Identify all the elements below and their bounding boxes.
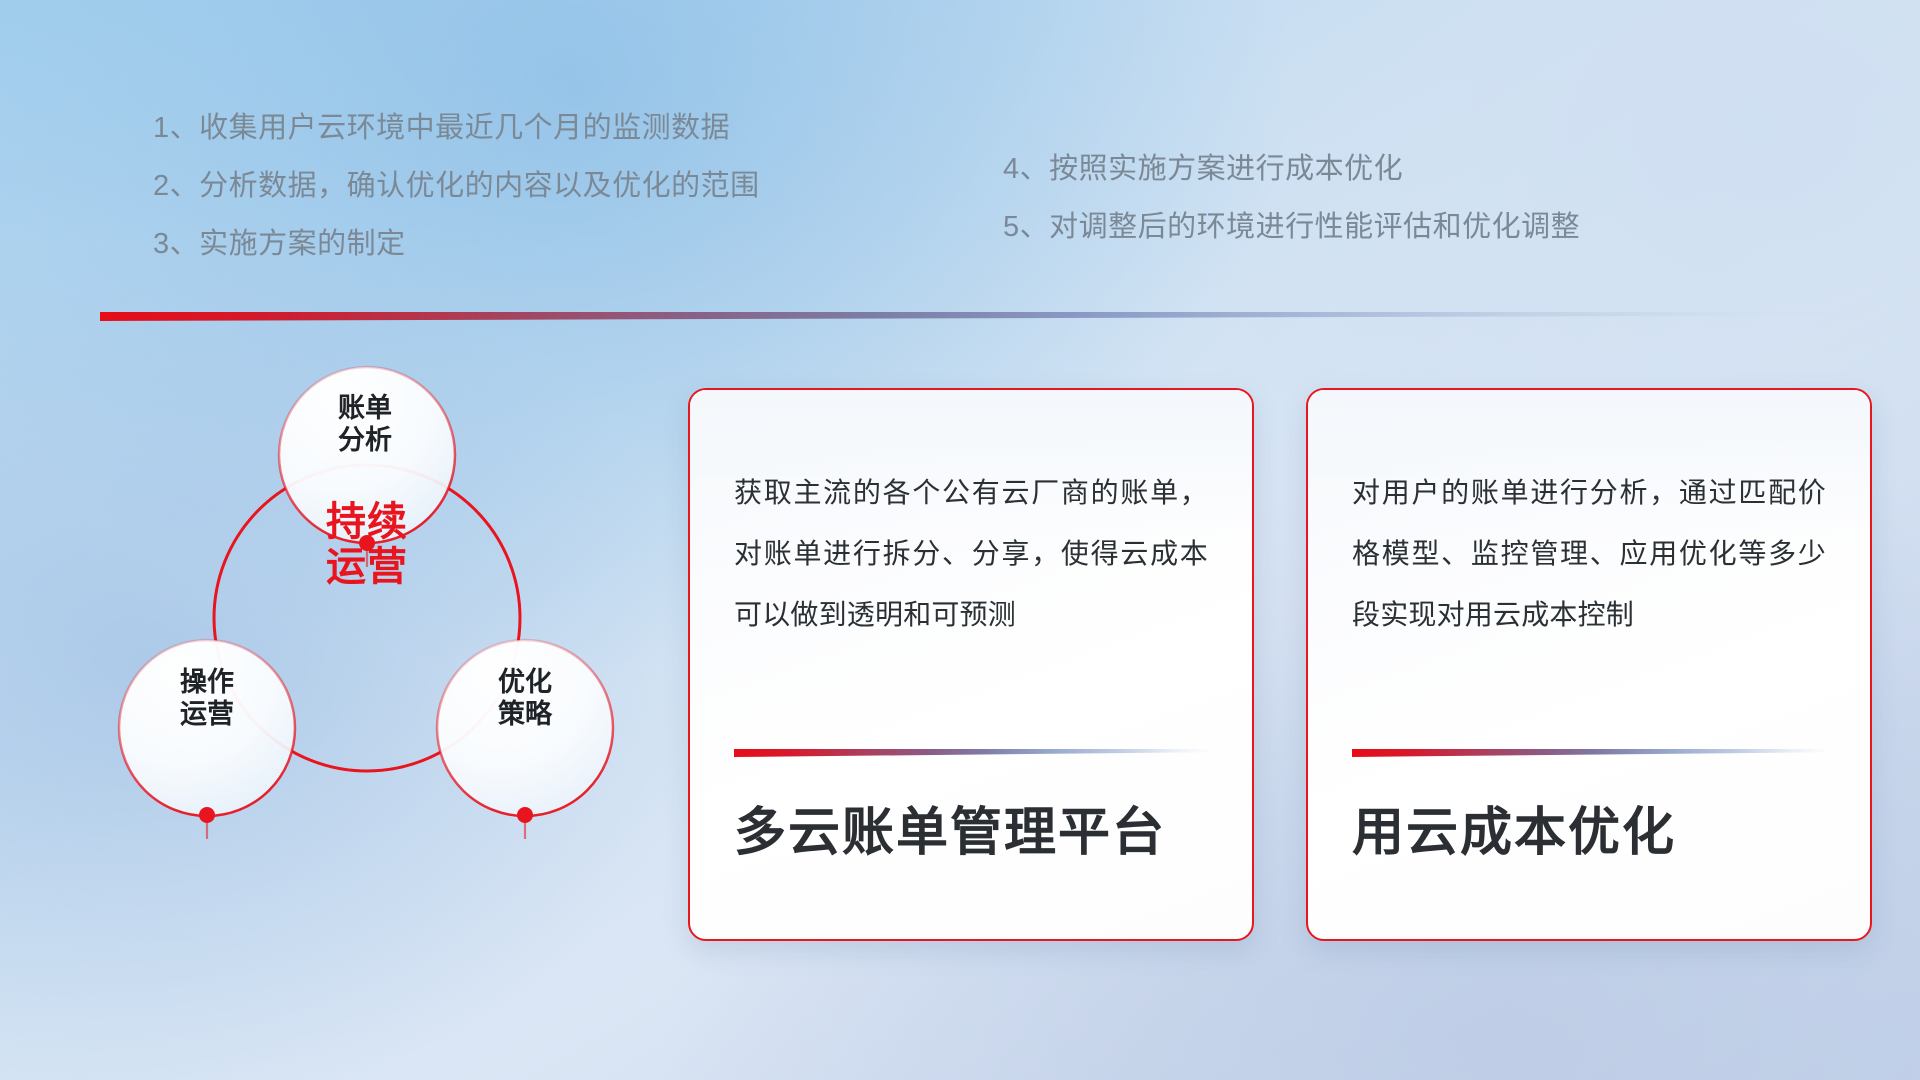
center-label-line-2: 运营 [272,545,462,590]
bubble-label-line-2: 策略 [455,699,595,731]
card-content: 对用户的账单进行分析，通过匹配价格模型、监控管理、应用优化等多少段实现对用云成本… [1308,390,1870,939]
step-item-4: 4、按照实施方案进行成本优化 [1003,155,1580,184]
step-item-2: 2、分析数据，确认优化的内容以及优化的范围 [153,172,760,201]
steps-left-column: 1、收集用户云环境中最近几个月的监测数据 2、分析数据，确认优化的内容以及优化的… [153,114,760,288]
bubble-label-line-2: 分析 [295,425,435,457]
card-content: 获取主流的各个公有云厂商的账单，对账单进行拆分、分享，使得云成本可以做到透明和可… [690,390,1252,939]
bubble-label-line-1: 账单 [295,393,435,425]
step-item-1: 1、收集用户云环境中最近几个月的监测数据 [153,114,760,143]
node-dot-right [517,807,533,823]
slide-canvas: 1、收集用户云环境中最近几个月的监测数据 2、分析数据，确认优化的内容以及优化的… [0,0,1920,1080]
step-item-5: 5、对调整后的环境进行性能评估和优化调整 [1003,213,1580,242]
card-description: 对用户的账单进行分析，通过匹配价格模型、监控管理、应用优化等多少段实现对用云成本… [1352,462,1826,645]
feature-card-multi-cloud-billing-platform[interactable]: 获取主流的各个公有云厂商的账单，对账单进行拆分、分享，使得云成本可以做到透明和可… [688,388,1254,941]
feature-card-cloud-cost-optimization[interactable]: 对用户的账单进行分析，通过匹配价格模型、监控管理、应用优化等多少段实现对用云成本… [1306,388,1872,941]
bubble-label-bill-analysis: 账单 分析 [295,393,435,457]
bubble-label-operations: 操作 运营 [137,667,277,731]
node-dot-left [199,807,215,823]
diagram-center-label: 持续 运营 [272,500,462,590]
bubble-label-line-1: 操作 [137,667,277,699]
steps-right-column: 4、按照实施方案进行成本优化 5、对调整后的环境进行性能评估和优化调整 [1003,155,1580,271]
bubble-label-strategy: 优化 策略 [455,667,595,731]
center-label-line-1: 持续 [272,500,462,545]
continuous-operations-diagram: 账单 分析 操作 运营 优化 策略 持续 运营 [95,345,655,945]
section-divider-line [100,312,1860,321]
bubble-label-line-1: 优化 [455,667,595,699]
card-description: 获取主流的各个公有云厂商的账单，对账单进行拆分、分享，使得云成本可以做到透明和可… [734,462,1208,645]
step-item-3: 3、实施方案的制定 [153,230,760,259]
bubble-label-line-2: 运营 [137,699,277,731]
